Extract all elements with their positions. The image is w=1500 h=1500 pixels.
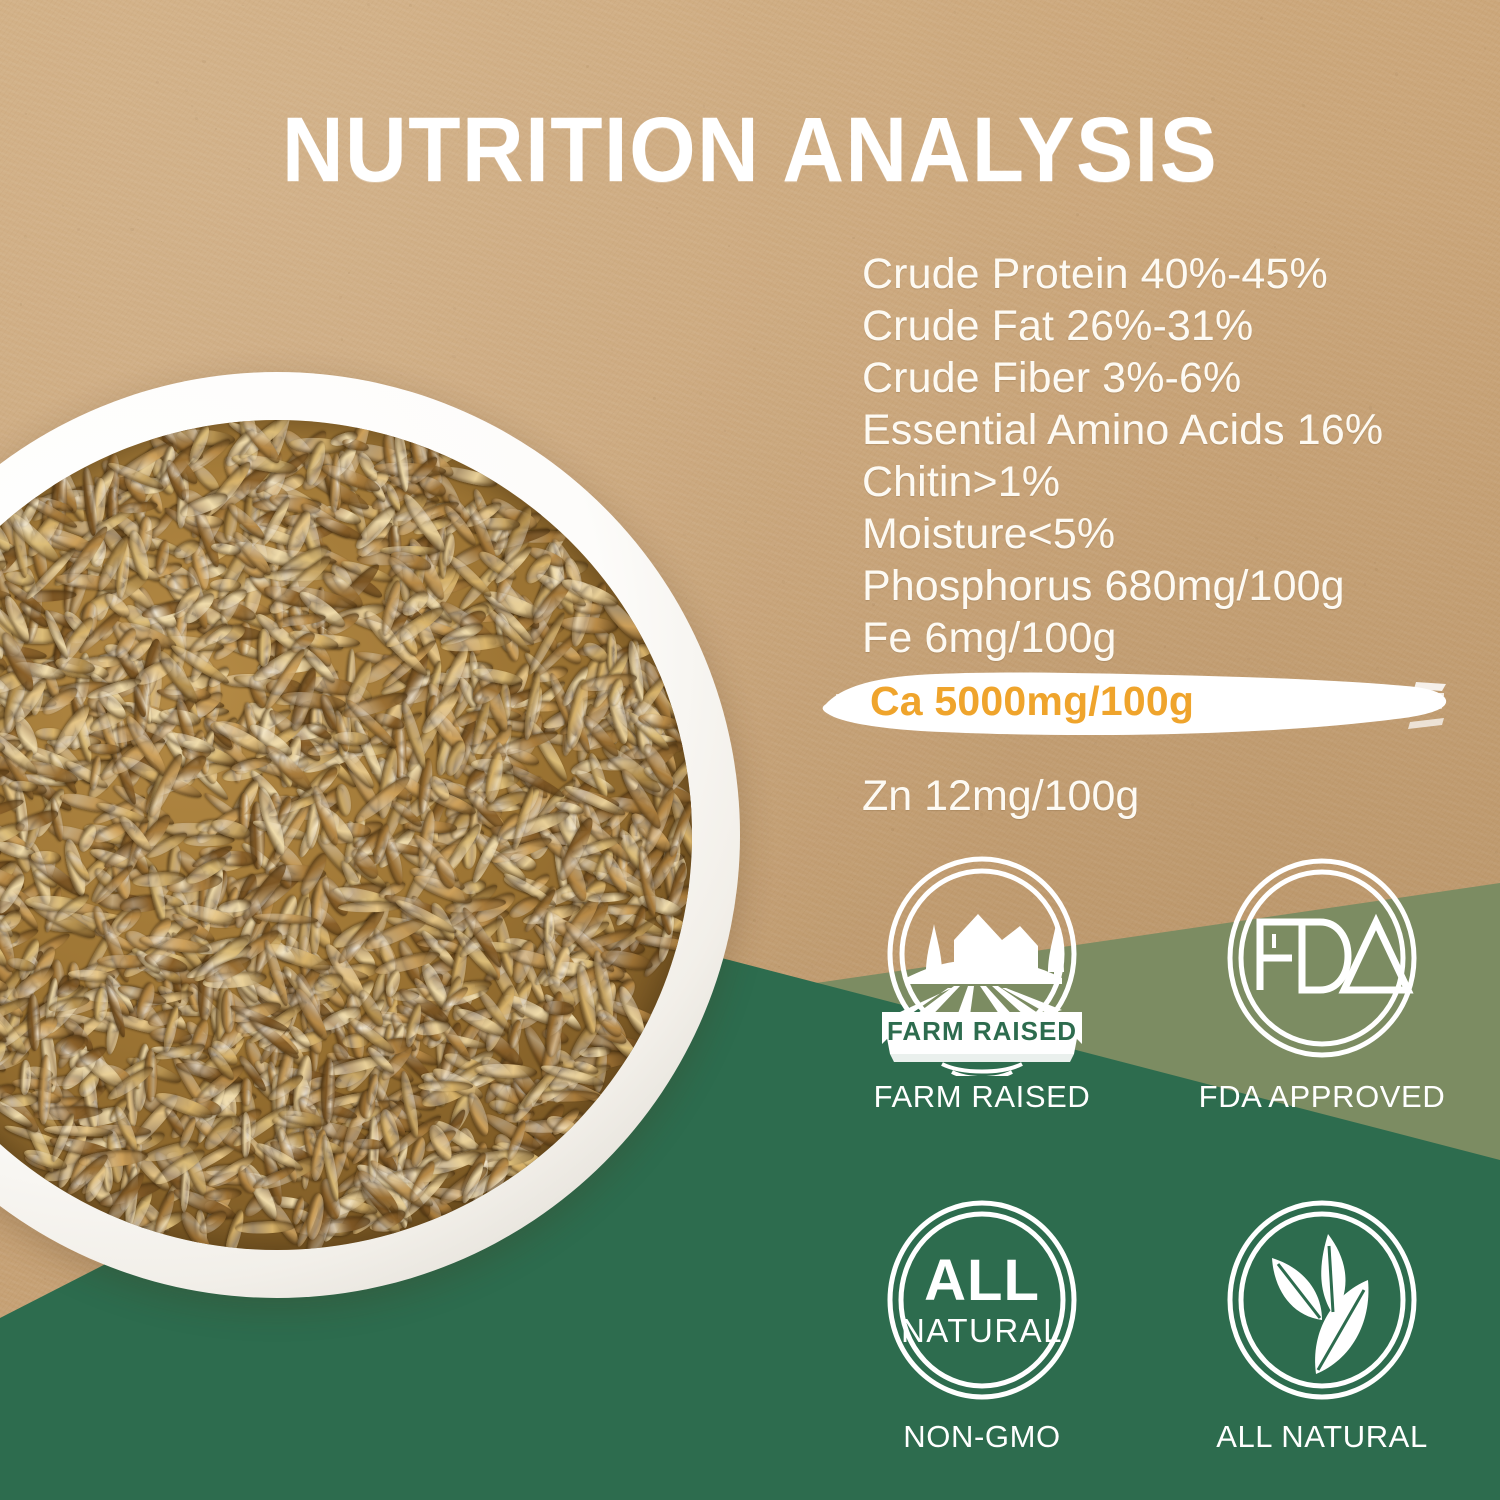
badge-caption: NON-GMO [832,1419,1132,1455]
badge-caption: FARM RAISED [832,1079,1132,1115]
nutrition-row: Crude Fat 26%-31% [862,300,1482,352]
fda-logo-icon [1172,845,1472,1085]
farm-ribbon-text: FARM RAISED [887,1016,1077,1046]
all-natural-seal-icon: ALL NATURAL [832,1185,1132,1425]
badge-caption: ALL NATURAL [1172,1419,1472,1455]
zinc-row: Zn 12mg/100g [862,770,1139,822]
nutrition-list: Crude Protein 40%-45% Crude Fat 26%-31% … [862,248,1482,664]
trust-badge-grid: FARM RAISED FARM RAISED [800,845,1500,1485]
badge-all-natural[interactable]: ALL NATURAL [1172,1185,1472,1455]
seal-word-all: ALL [924,1248,1040,1313]
nutrition-row: Phosphorus 680mg/100g [862,560,1482,612]
nutrition-row: Moisture<5% [862,508,1482,560]
badge-fda-approved[interactable]: FDA APPROVED [1172,845,1472,1115]
badge-caption: FDA APPROVED [1172,1079,1472,1115]
nutrition-row: Crude Protein 40%-45% [862,248,1482,300]
calcium-highlight: Ca 5000mg/100g [818,660,1448,752]
nutrition-row: Chitin>1% [862,456,1482,508]
infographic-canvas: white ceramic bowl filled with dried bla… [0,0,1500,1500]
badge-non-gmo[interactable]: ALL NATURAL NON-GMO [832,1185,1132,1455]
calcium-value-text: Ca 5000mg/100g [870,678,1194,725]
seal-word-natural: NATURAL [901,1312,1063,1349]
badge-farm-raised[interactable]: FARM RAISED FARM RAISED [832,845,1132,1115]
page-title: NUTRITION ANALYSIS [53,104,1448,196]
leaves-icon [1172,1185,1472,1425]
nutrition-row: Fe 6mg/100g [862,612,1482,664]
larvae-pile [0,420,692,1250]
nutrition-row: Essential Amino Acids 16% [862,404,1482,456]
farm-scene-icon: FARM RAISED [832,845,1132,1085]
nutrition-row: Crude Fiber 3%-6% [862,352,1482,404]
